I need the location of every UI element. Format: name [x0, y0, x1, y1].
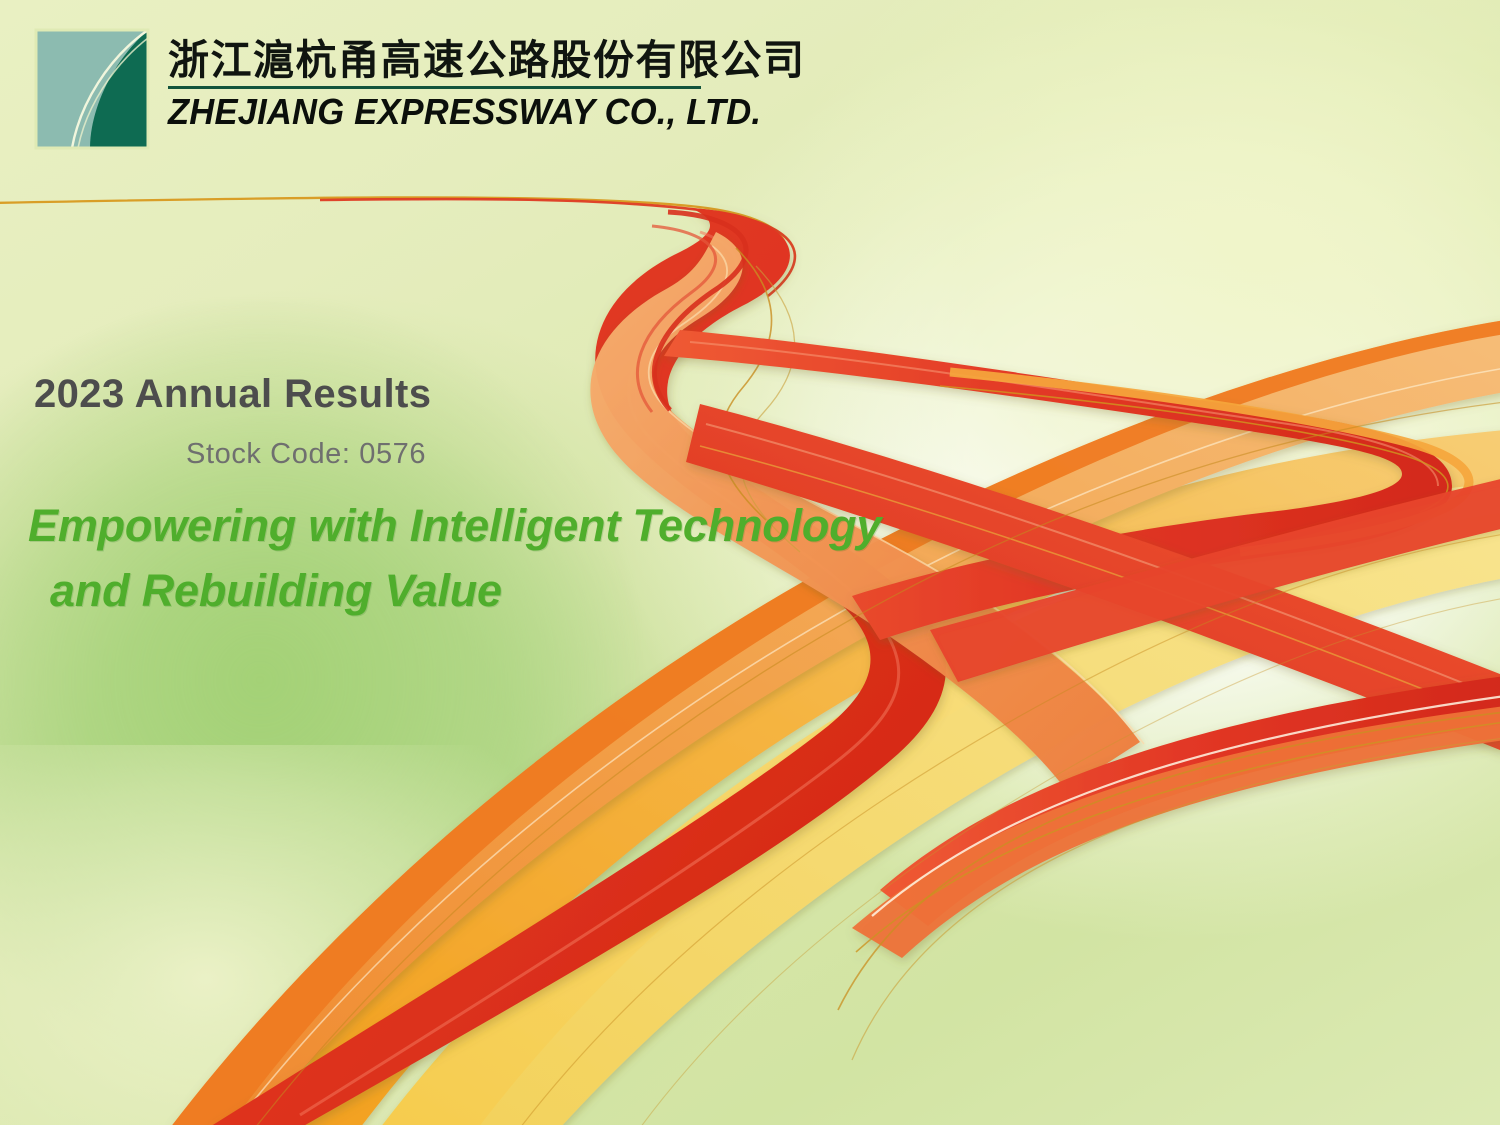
tagline: Empowering with Intelligent Technology a…: [28, 493, 920, 624]
company-name-en: ZHEJIANG EXPRESSWAY CO., LTD.: [168, 94, 780, 130]
wordmark-divider: [168, 86, 701, 89]
stock-code-label: Stock Code: 0576: [186, 438, 920, 471]
company-header: 浙江滬杭甬高速公路股份有限公司 ZHEJIANG EXPRESSWAY CO.,…: [34, 26, 806, 152]
title-slide: 浙江滬杭甬高速公路股份有限公司 ZHEJIANG EXPRESSWAY CO.,…: [0, 0, 1500, 1125]
company-name-cn: 浙江滬杭甬高速公路股份有限公司: [168, 38, 806, 82]
company-wordmarks: 浙江滬杭甬高速公路股份有限公司 ZHEJIANG EXPRESSWAY CO.,…: [168, 26, 806, 130]
tagline-line-2: and Rebuilding Value: [50, 558, 920, 623]
title-block: 2023 Annual Results Stock Code: 0576 Emp…: [0, 372, 920, 624]
company-logo-icon: [34, 26, 152, 152]
page-title: 2023 Annual Results: [34, 372, 920, 416]
tagline-line-1: Empowering with Intelligent Technology: [28, 500, 881, 551]
